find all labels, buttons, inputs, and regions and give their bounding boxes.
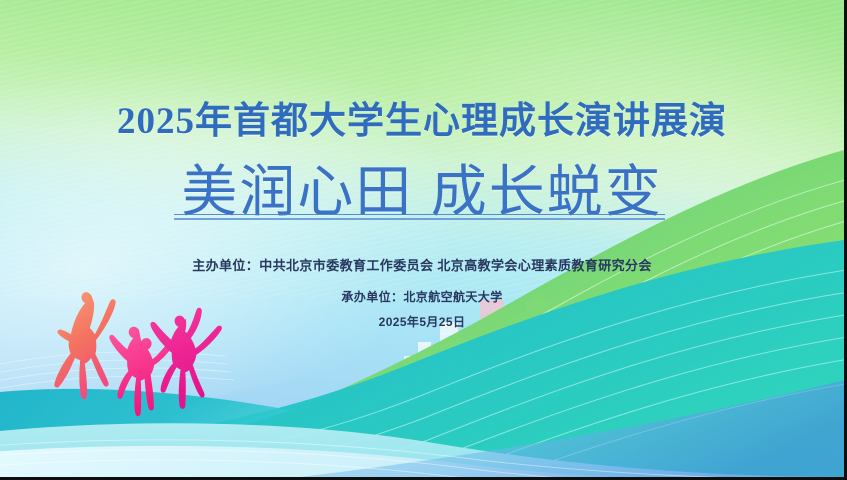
poster-canvas: 2025年首都大学生心理成长演讲展演 美润心田 成长蜕变 主办单位：中共北京市委… — [0, 0, 847, 480]
page-title: 2025年首都大学生心理成长演讲展演 — [0, 90, 844, 144]
jumper-left-orange — [54, 292, 115, 399]
rule-line-top — [174, 214, 665, 215]
organizer-line: 主办单位：中共北京市委教育工作委员会 北京高教学会心理素质教育研究分会 — [0, 255, 844, 274]
subtitle-double-rule — [174, 214, 665, 220]
rule-line-bottom — [174, 218, 665, 220]
date-line: 2025年5月25日 — [0, 313, 844, 330]
poster-artwork — [0, 0, 844, 477]
host-line: 承办单位：北京航空航天大学 — [0, 288, 844, 305]
